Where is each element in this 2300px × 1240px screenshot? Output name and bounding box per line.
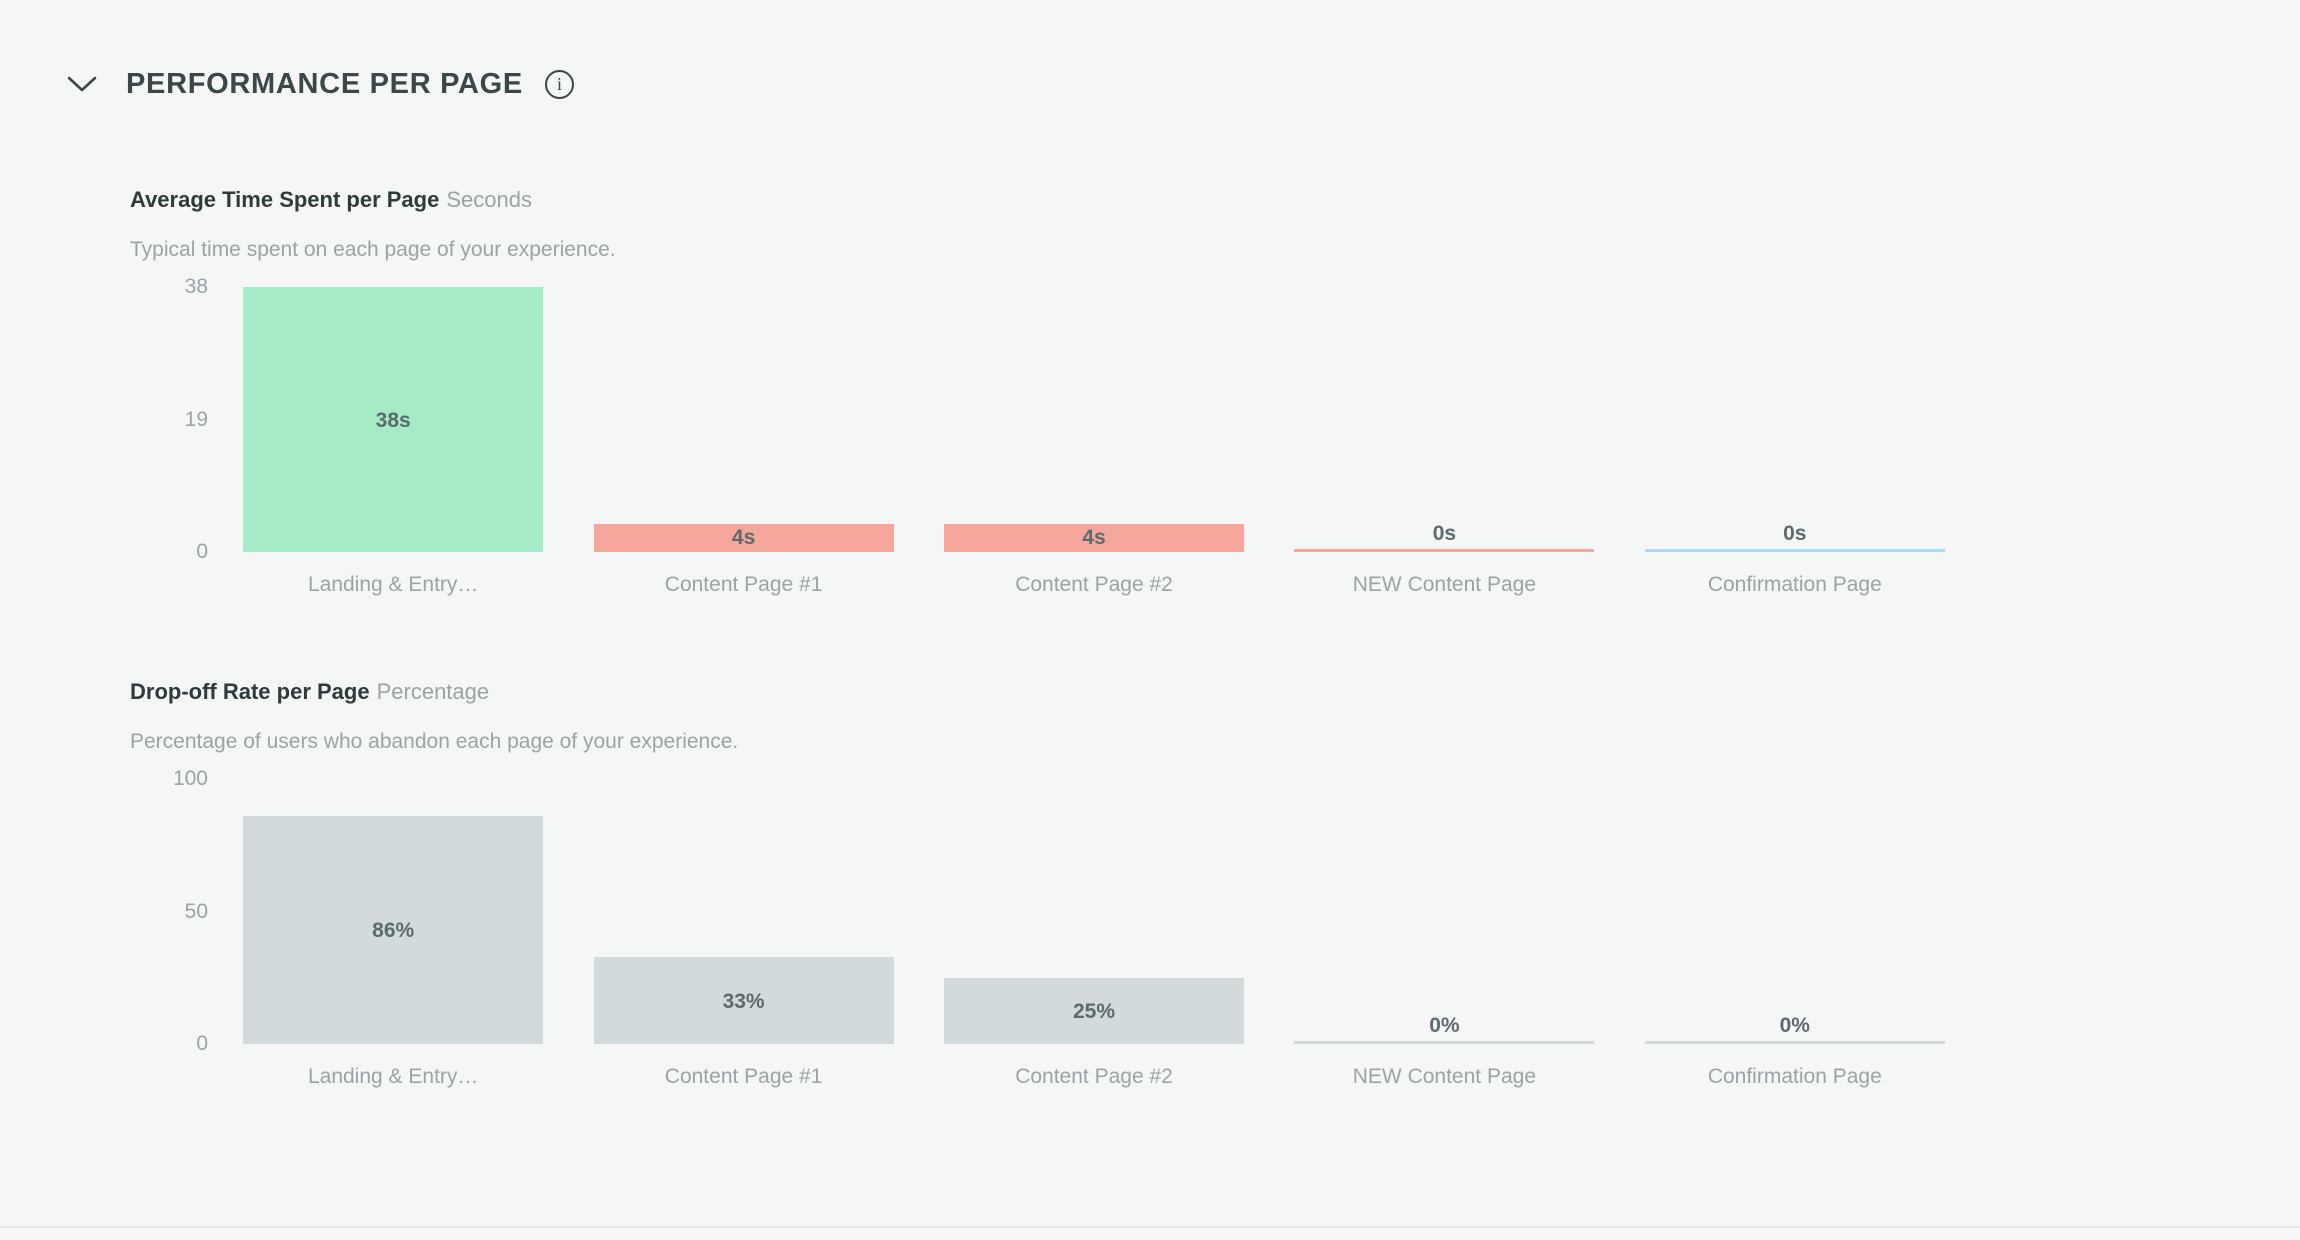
y-axis-tick-label: 0	[196, 540, 208, 564]
bar-slot[interactable]: 0sConfirmation Page	[1645, 287, 1945, 552]
x-axis-category-label: Content Page #2	[914, 1065, 1274, 1089]
bar-value-label: 25%	[944, 1000, 1244, 1024]
chart-unit-label: Percentage	[377, 679, 490, 704]
x-axis-category-label: Content Page #2	[914, 573, 1274, 597]
y-axis-tick-label: 19	[185, 408, 208, 432]
x-axis-category-label: Content Page #1	[564, 573, 924, 597]
chart-description: Percentage of users who abandon each pag…	[130, 729, 1970, 755]
panel-bottom-divider	[0, 1226, 2300, 1228]
bar-slot[interactable]: 4sContent Page #2	[944, 287, 1244, 552]
chart-plot-area: 3819038sLanding & Entry…4sContent Page #…	[130, 287, 1970, 607]
bar-value-label: 33%	[594, 990, 894, 1014]
bar-slot[interactable]: 0%Confirmation Page	[1645, 779, 1945, 1044]
bar-zero-line[interactable]	[1294, 549, 1594, 552]
x-axis-category-label: NEW Content Page	[1264, 1065, 1624, 1089]
chart-title: Drop-off Rate per PagePercentage	[130, 678, 1970, 706]
y-axis: 100500	[130, 779, 208, 1044]
x-axis-category-label: Content Page #1	[564, 1065, 924, 1089]
y-axis-tick-label: 50	[185, 900, 208, 924]
section-header: PERFORMANCE PER PAGE i	[60, 62, 574, 106]
y-axis-tick-label: 38	[185, 275, 208, 299]
chart-title-text: Drop-off Rate per Page	[130, 679, 370, 704]
bar-slot[interactable]: 38sLanding & Entry…	[243, 287, 543, 552]
info-circle-icon[interactable]: i	[545, 70, 574, 99]
chart-block-drop-off: Drop-off Rate per PagePercentagePercenta…	[130, 678, 1970, 1099]
chart-title: Average Time Spent per PageSeconds	[130, 186, 1970, 214]
performance-per-page-panel: PERFORMANCE PER PAGE i Average Time Spen…	[0, 0, 2300, 1226]
x-axis-category-label: Landing & Entry…	[213, 573, 573, 597]
bar-slot[interactable]: 33%Content Page #1	[594, 779, 894, 1044]
bar-group: 86%Landing & Entry…33%Content Page #125%…	[218, 779, 1970, 1044]
chart-title-text: Average Time Spent per Page	[130, 187, 439, 212]
chart-unit-label: Seconds	[446, 187, 532, 212]
bar-slot[interactable]: 4sContent Page #1	[594, 287, 894, 552]
bar-value-label: 86%	[243, 919, 543, 943]
bar-zero-line[interactable]	[1645, 549, 1945, 552]
y-axis-tick-label: 0	[196, 1032, 208, 1056]
bar-slot[interactable]: 0sNEW Content Page	[1294, 287, 1594, 552]
y-axis-tick-label: 100	[173, 767, 208, 791]
chart-plot-area: 10050086%Landing & Entry…33%Content Page…	[130, 779, 1970, 1099]
bar-slot[interactable]: 86%Landing & Entry…	[243, 779, 543, 1044]
bar-value-label: 0s	[1294, 522, 1594, 546]
bar-zero-line[interactable]	[1645, 1041, 1945, 1044]
bar-value-label: 0s	[1645, 522, 1945, 546]
bar-zero-line[interactable]	[1294, 1041, 1594, 1044]
bar-group: 38sLanding & Entry…4sContent Page #14sCo…	[218, 287, 1970, 552]
page-title: PERFORMANCE PER PAGE	[126, 62, 523, 106]
bar-value-label: 0%	[1645, 1014, 1945, 1038]
bar-slot[interactable]: 0%NEW Content Page	[1294, 779, 1594, 1044]
bar-slot[interactable]: 25%Content Page #2	[944, 779, 1244, 1044]
bar-value-label: 4s	[594, 526, 894, 550]
bar-value-label: 38s	[243, 409, 543, 433]
bar-value-label: 0%	[1294, 1014, 1594, 1038]
x-axis-category-label: Confirmation Page	[1615, 573, 1975, 597]
bar-value-label: 4s	[944, 526, 1244, 550]
x-axis-category-label: Confirmation Page	[1615, 1065, 1975, 1089]
chevron-down-icon[interactable]	[60, 62, 104, 106]
x-axis-category-label: NEW Content Page	[1264, 573, 1624, 597]
chart-description: Typical time spent on each page of your …	[130, 237, 1970, 263]
x-axis-category-label: Landing & Entry…	[213, 1065, 573, 1089]
y-axis: 38190	[130, 287, 208, 552]
chart-block-average-time: Average Time Spent per PageSecondsTypica…	[130, 186, 1970, 607]
